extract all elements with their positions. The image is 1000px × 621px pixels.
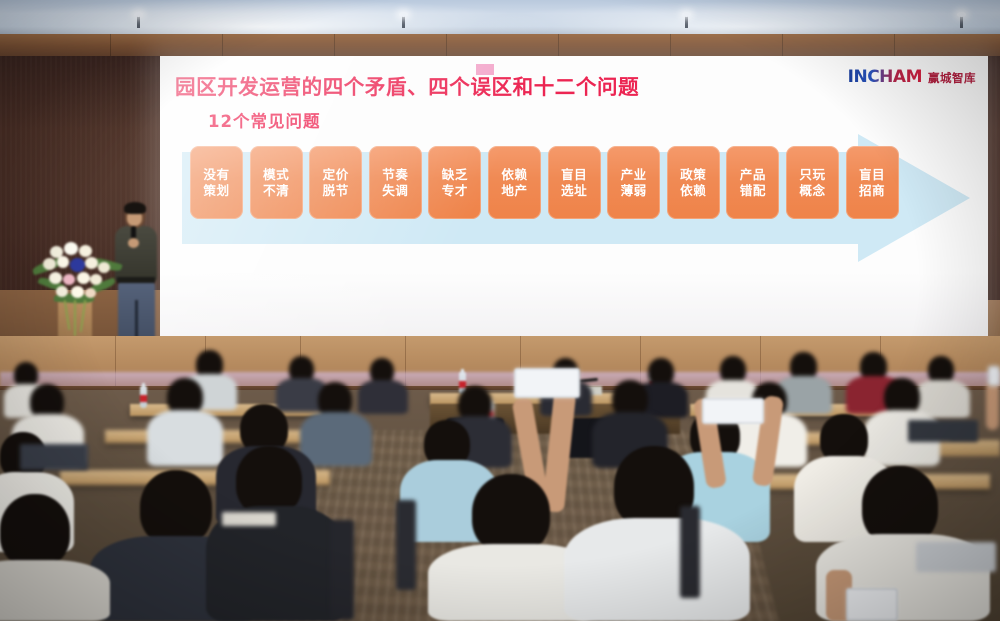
problem-box: 产品 错配 [726,146,779,219]
problem-line2: 招商 [859,183,885,198]
problem-line2: 概念 [799,183,825,198]
problem-box: 只玩 概念 [786,146,839,219]
problem-line2: 错配 [740,183,766,198]
flower-arrangement [30,238,122,312]
problem-line1: 定价 [323,167,349,182]
logo-english-text: INCHAM [848,67,922,87]
problem-line2: 选址 [561,183,587,198]
problem-line2: 专才 [442,183,468,198]
chair-back [396,500,416,590]
photo-scene: 园区开发运营的四个矛盾、四个误区和十二个问题 12个常见问题 INCHAM 赢城… [0,0,1000,621]
problem-box: 盲目 选址 [548,146,601,219]
notebook [222,512,276,526]
ceiling-spotlight [137,16,140,28]
problem-box: 依赖 地产 [488,146,541,219]
problem-line1: 只玩 [799,167,825,182]
chair-back [680,506,700,598]
problem-box: 产业 薄弱 [607,146,660,219]
problem-line1: 产品 [740,167,766,182]
chair-back [330,520,354,620]
problem-line2: 策划 [203,183,229,198]
presenter-hair [124,202,146,214]
problem-line1: 盲目 [561,167,587,182]
brand-logo: INCHAM 赢城智库 [848,67,976,87]
problem-box: 模式 不清 [250,146,303,219]
laptop [908,420,978,442]
laptop [20,444,88,470]
title-highlight-mark [476,64,494,75]
water-bottle [140,386,147,408]
slide-title: 园区开发运营的四个矛盾、四个误区和十二个问题 [175,70,835,100]
audience-desk [930,440,1000,456]
problem-box-row: 没有 策划 模式 不清 定价 脱节 节奏 失调 缺乏 专才 依赖 地产 盲目 选… [190,146,899,219]
problem-line1: 依赖 [501,167,527,182]
problem-line2: 失调 [382,183,408,198]
projection-screen: 园区开发运营的四个矛盾、四个误区和十二个问题 12个常见问题 INCHAM 赢城… [160,56,988,356]
ceiling-spotlight [685,16,688,28]
slide-subtitle: 12个常见问题 [208,108,320,132]
problem-box: 缺乏 专才 [428,146,481,219]
presenter-hand [128,238,139,248]
problem-box: 节奏 失调 [369,146,422,219]
problem-line2: 脱节 [323,183,349,198]
problem-box: 没有 策划 [190,146,243,219]
problem-line2: 薄弱 [621,183,647,198]
problem-line2: 地产 [501,183,527,198]
presenter-belt [117,277,155,283]
problem-line2: 不清 [263,183,289,198]
problem-line1: 盲目 [859,167,885,182]
problem-box: 定价 脱节 [309,146,362,219]
ceiling-light-glow [0,0,1000,38]
logo-chinese-text: 赢城智库 [928,70,976,86]
problem-line1: 节奏 [382,167,408,182]
problem-line1: 模式 [263,167,289,182]
problem-line2: 依赖 [680,183,706,198]
problem-box: 盲目 招商 [846,146,899,219]
problem-line1: 没有 [203,167,229,182]
ceiling-spotlight [960,16,963,28]
ceiling-spotlight [402,16,405,28]
problem-box: 政策 依赖 [667,146,720,219]
problem-line1: 政策 [680,167,706,182]
problem-line1: 产业 [621,167,647,182]
problem-line1: 缺乏 [442,167,468,182]
tablet [916,542,996,572]
